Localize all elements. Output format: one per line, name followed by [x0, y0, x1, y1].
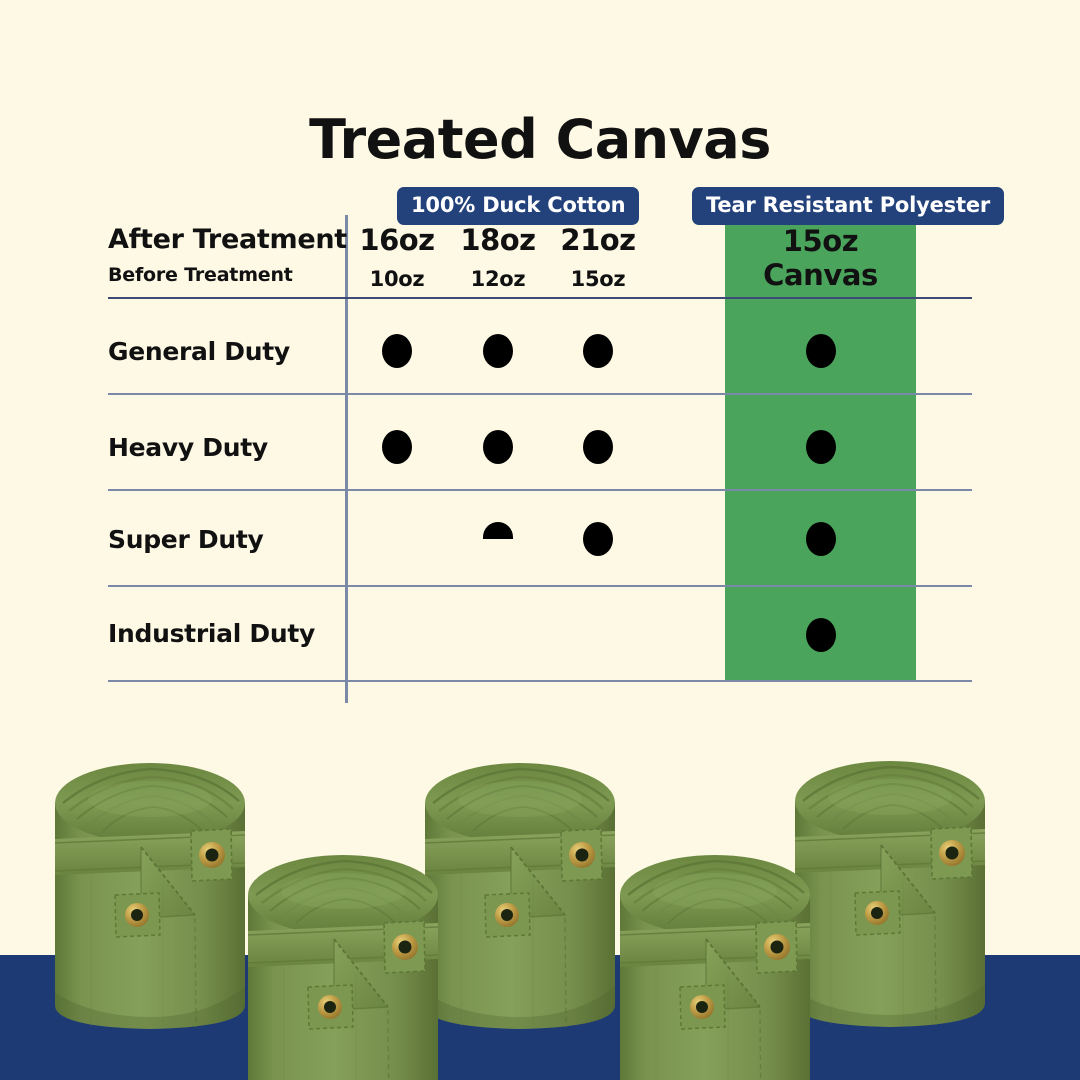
product-image-canvas-rolls [0, 735, 1080, 1080]
mark-heavy-duty-21oz [583, 430, 613, 464]
column-before-value-2: 15oz [538, 269, 658, 290]
row-label-general-duty: General Duty [108, 337, 290, 366]
axis-label-before-treatment: Before Treatment [108, 264, 293, 286]
group-badge-duck-cotton: 100% Duck Cotton [397, 187, 639, 225]
mark-super-duty-15oz-canvas [806, 522, 836, 556]
column-after-value-2: 21oz [538, 226, 658, 255]
group-badge-polyester: Tear Resistant Polyester [692, 187, 1004, 225]
row-label-industrial-duty: Industrial Duty [108, 619, 315, 648]
axis-label-after-treatment: After Treatment [108, 224, 347, 255]
mark-heavy-duty-16oz [382, 430, 412, 464]
mark-general-duty-15oz-canvas [806, 334, 836, 368]
column-header-21oz: 21oz 15oz [538, 226, 658, 290]
table-rule-header [108, 297, 972, 299]
table-rule-1 [108, 393, 972, 395]
mark-super-duty-18oz-half [483, 522, 513, 539]
mark-general-duty-18oz [483, 334, 513, 368]
mark-heavy-duty-15oz-canvas [806, 430, 836, 464]
row-label-heavy-duty: Heavy Duty [108, 433, 268, 462]
mark-super-duty-21oz [583, 522, 613, 556]
mark-general-duty-16oz [382, 334, 412, 368]
column-header-15oz-canvas: 15oz Canvas [725, 224, 916, 292]
mark-general-duty-21oz [583, 334, 613, 368]
mark-heavy-duty-18oz [483, 430, 513, 464]
mark-industrial-duty-15oz-canvas [806, 618, 836, 652]
table-rule-3 [108, 585, 972, 587]
comparison-table: 100% Duck Cotton Tear Resistant Polyeste… [0, 0, 1080, 740]
table-rule-bottom [108, 680, 972, 682]
row-label-super-duty: Super Duty [108, 525, 263, 554]
table-rule-2 [108, 489, 972, 491]
